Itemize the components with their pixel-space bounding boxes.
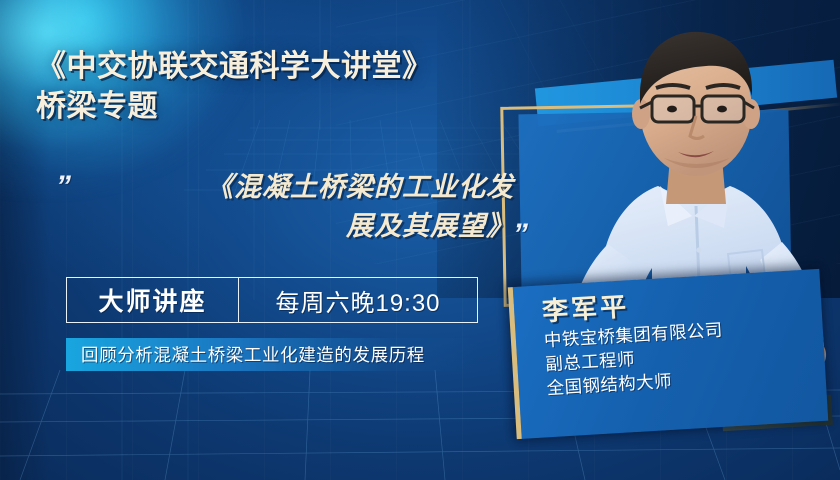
topic-line-1: 《混凝土桥梁的工业化发 — [86, 168, 514, 207]
lecture-time-label: 每周六晚19:30 — [239, 283, 477, 318]
lecture-topic-title: 《混凝土桥梁的工业化发 展及其展望》 — [86, 168, 514, 246]
lecture-schedule-box: 大师讲座 每周六晚19:30 — [66, 277, 478, 323]
title-line-1: 《中交协联交通科学大讲堂》 — [36, 50, 433, 83]
quote-close-mark-icon: ” — [513, 220, 528, 250]
topic-line-2: 展及其展望》 — [86, 207, 514, 246]
subtitle-text: 回顾分析混凝土桥梁工业化建造的发展历程 — [81, 342, 425, 367]
left-content-column: 《中交协联交通科学大讲堂》 桥梁专题 ” 《混凝土桥梁的工业化发 展及其展望》 … — [0, 0, 540, 480]
lecture-series-label: 大师讲座 — [67, 278, 239, 322]
quote-block: ” 《混凝土桥梁的工业化发 展及其展望》 ” — [54, 168, 524, 260]
quote-open-mark-icon: ” — [56, 172, 71, 202]
page-title: 《中交协联交通科学大讲堂》 桥梁专题 — [36, 47, 536, 127]
speaker-info-card: 李军平 中铁宝桥集团有限公司 副总工程师 全国钢结构大师 — [508, 269, 828, 439]
poster-canvas: 《中交协联交通科学大讲堂》 桥梁专题 ” 《混凝土桥梁的工业化发 展及其展望》 … — [0, 0, 840, 480]
title-line-2: 桥梁专题 — [36, 87, 536, 127]
subtitle-banner: 回顾分析混凝土桥梁工业化建造的发展历程 — [66, 338, 478, 371]
